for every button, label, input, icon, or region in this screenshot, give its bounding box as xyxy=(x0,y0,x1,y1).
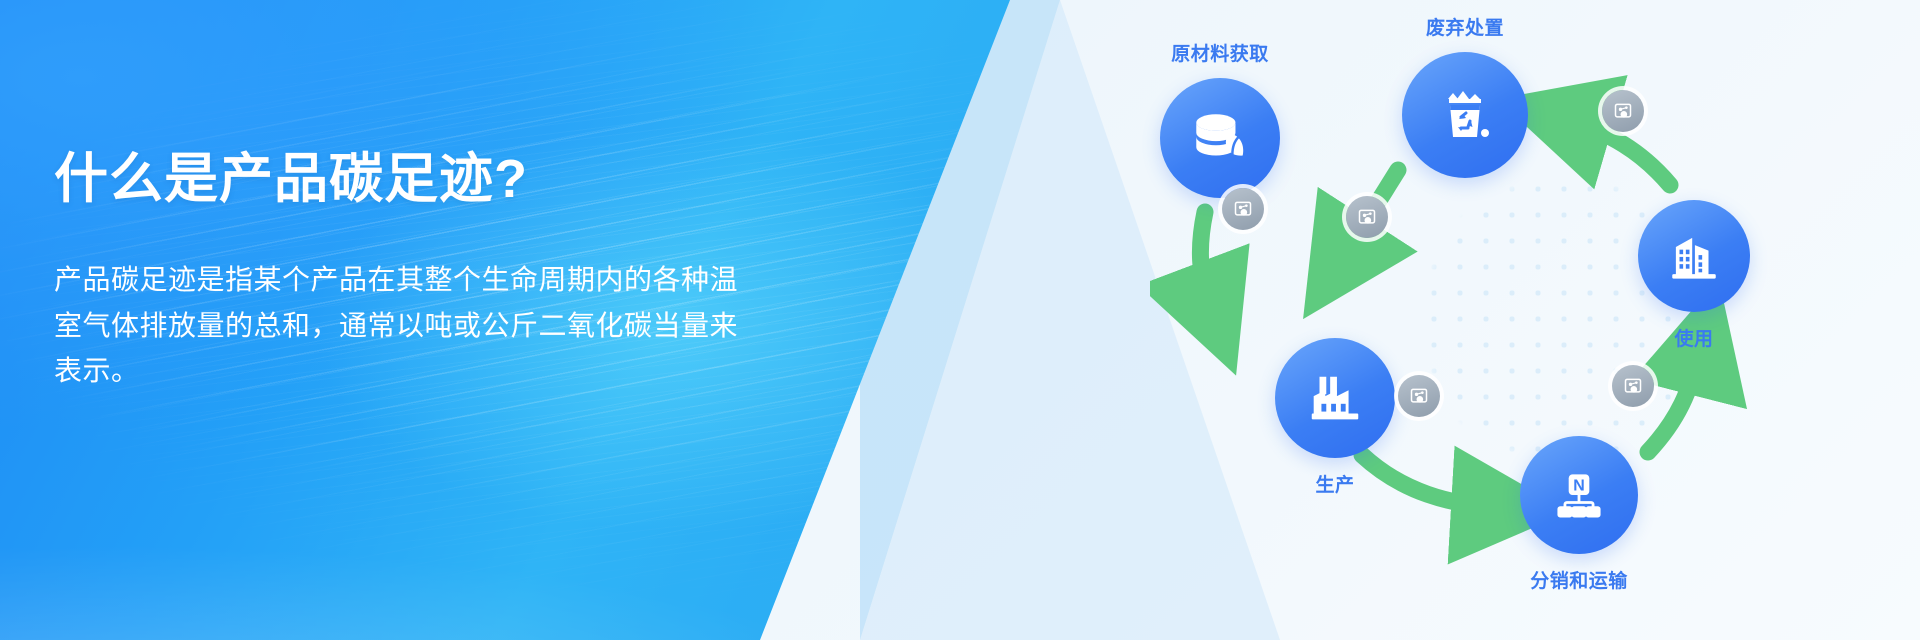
hero-description: 产品碳足迹是指某个产品在其整个生命周期内的各种温室气体排放量的总和，通常以吨或公… xyxy=(54,257,754,393)
arrow-prod-to-dist xyxy=(1362,455,1502,508)
lifecycle-diagram: 原材料获取 废弃处置 xyxy=(1150,0,1920,640)
lifecycle-node-production[interactable]: 生产 xyxy=(1275,338,1395,458)
arrow-raw-to-prod xyxy=(1200,212,1212,312)
lifecycle-node-distribution[interactable]: N 分销和运输 xyxy=(1520,436,1638,554)
lifecycle-node-raw-material[interactable]: 原材料获取 xyxy=(1160,78,1280,198)
image-placeholder-icon xyxy=(1357,207,1377,227)
recycle-bin-icon xyxy=(1433,83,1497,147)
lifecycle-node-label: 废弃处置 xyxy=(1426,13,1504,40)
lifecycle-node-use[interactable]: 使用 xyxy=(1638,200,1750,312)
distribution-icon-letter: N xyxy=(1573,477,1585,494)
arrow-dist-to-use xyxy=(1648,345,1702,452)
badge-image-placeholder-2[interactable] xyxy=(1222,188,1264,230)
database-leaf-icon xyxy=(1187,105,1253,171)
badge-image-placeholder-5[interactable] xyxy=(1612,365,1654,407)
image-placeholder-icon xyxy=(1409,386,1429,406)
lifecycle-node-label: 使用 xyxy=(1674,324,1713,351)
image-placeholder-icon xyxy=(1233,199,1253,219)
hero-copy-block: 什么是产品碳足迹? 产品碳足迹是指某个产品在其整个生命周期内的各种温室气体排放量… xyxy=(54,150,794,393)
lifecycle-node-label: 分销和运输 xyxy=(1530,566,1628,593)
image-placeholder-icon xyxy=(1613,101,1633,121)
page-title: 什么是产品碳足迹? xyxy=(54,150,794,209)
lifecycle-node-label: 原材料获取 xyxy=(1171,39,1269,66)
distribution-node-icon: N xyxy=(1549,465,1609,525)
factory-icon xyxy=(1304,367,1366,429)
badge-image-placeholder-3[interactable] xyxy=(1602,90,1644,132)
lifecycle-node-waste-disposal[interactable]: 废弃处置 xyxy=(1402,52,1528,178)
node-bubble xyxy=(1638,200,1750,312)
badge-image-placeholder-1[interactable] xyxy=(1346,196,1388,238)
lifecycle-node-label: 生产 xyxy=(1315,470,1354,497)
badge-image-placeholder-4[interactable] xyxy=(1398,375,1440,417)
node-bubble xyxy=(1275,338,1395,458)
buildings-icon xyxy=(1665,227,1723,285)
node-bubble xyxy=(1160,78,1280,198)
node-bubble xyxy=(1402,52,1528,178)
product-carbon-footprint-banner: 什么是产品碳足迹? 产品碳足迹是指某个产品在其整个生命周期内的各种温室气体排放量… xyxy=(0,0,1920,640)
image-placeholder-icon xyxy=(1623,376,1643,396)
node-bubble: N xyxy=(1520,436,1638,554)
